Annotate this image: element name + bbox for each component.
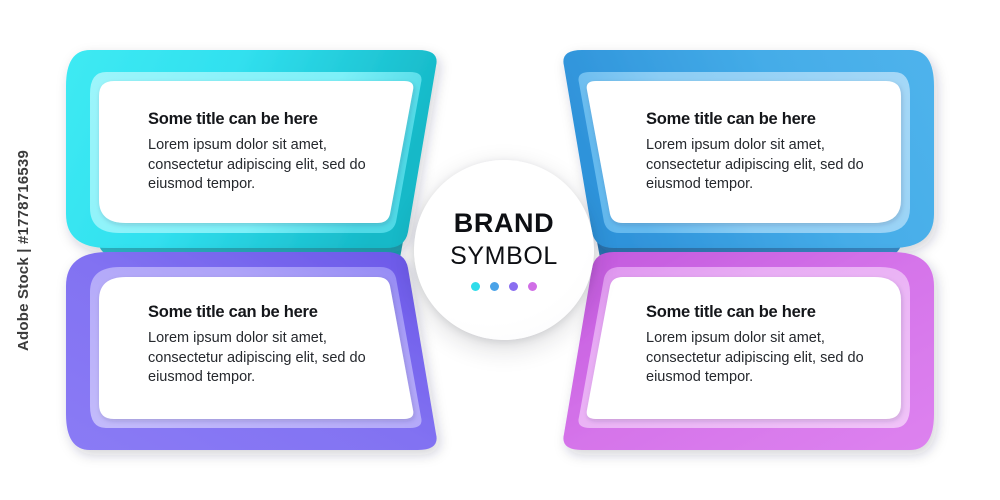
brand-dot-cyan-icon bbox=[471, 282, 480, 291]
panel-description-top-right: Lorem ipsum dolor sit amet, consectetur … bbox=[646, 136, 886, 195]
panel-title-top-right: Some title can be here bbox=[646, 110, 886, 129]
brand-name-line1: BRAND bbox=[454, 210, 555, 237]
brand-dot-row bbox=[471, 282, 537, 291]
brand-dot-magenta-icon bbox=[528, 282, 537, 291]
brand-name-line2: SYMBOL bbox=[450, 244, 558, 269]
panel-text-bottom-right: Some title can be here Lorem ipsum dolor… bbox=[646, 303, 886, 388]
panel-title-bottom-right: Some title can be here bbox=[646, 303, 886, 322]
panel-title-top-left: Some title can be here bbox=[148, 110, 388, 129]
panel-description-bottom-right: Lorem ipsum dolor sit amet, consectetur … bbox=[646, 329, 886, 388]
panel-text-top-left: Some title can be here Lorem ipsum dolor… bbox=[148, 110, 388, 195]
panel-title-bottom-left: Some title can be here bbox=[148, 303, 388, 322]
infographic-canvas: Some title can be here Lorem ipsum dolor… bbox=[0, 0, 1000, 500]
panel-description-top-left: Lorem ipsum dolor sit amet, consectetur … bbox=[148, 136, 388, 195]
brand-dot-purple-icon bbox=[509, 282, 518, 291]
brand-symbol-medallion[interactable]: BRAND SYMBOL bbox=[414, 160, 594, 340]
panel-description-bottom-left: Lorem ipsum dolor sit amet, consectetur … bbox=[148, 329, 388, 388]
panel-text-top-right: Some title can be here Lorem ipsum dolor… bbox=[646, 110, 886, 195]
panel-text-bottom-left: Some title can be here Lorem ipsum dolor… bbox=[148, 303, 388, 388]
brand-dot-blue-icon bbox=[490, 282, 499, 291]
